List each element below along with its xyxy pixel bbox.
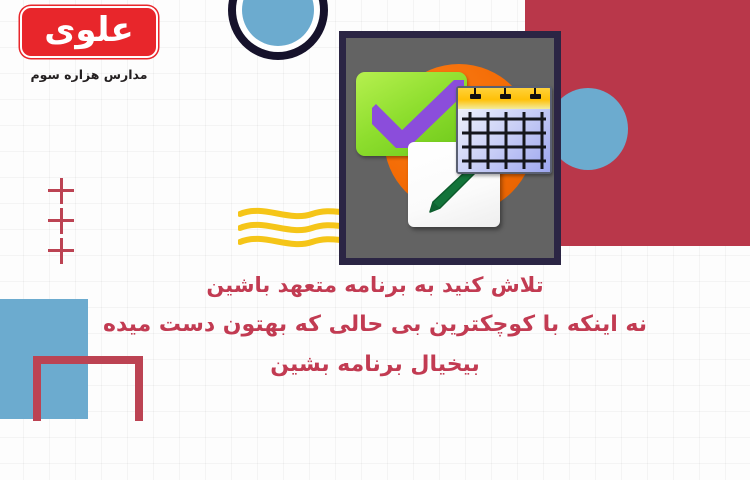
wavy-lines-svg <box>238 206 354 252</box>
schedule-planner-icon <box>339 31 561 265</box>
wavy-lines-decor <box>238 206 354 252</box>
headline-block: تلاش کنید به برنامه متعهد باشین نه اینکه… <box>0 275 750 376</box>
brand-logo[interactable]: علوی مدارس هزاره سوم <box>20 6 170 82</box>
calendar-grid <box>458 109 550 172</box>
plus-icon <box>48 208 74 234</box>
calendar-header <box>458 88 550 109</box>
calendar-grid-lines <box>458 109 550 173</box>
headline-line-3: بیخیال برنامه بشین <box>0 354 750 376</box>
poster-canvas: علوی مدارس هزاره سوم تلاش کنید به برنامه… <box>0 0 750 480</box>
checkmark-icon <box>372 80 464 148</box>
logo-text: علوی <box>44 13 134 47</box>
calendar-clip-icon <box>500 86 509 102</box>
calendar-clip-icon <box>470 86 479 102</box>
circle-blue-core <box>242 0 314 46</box>
ringed-circle-decor <box>228 0 328 60</box>
plus-icon <box>48 238 74 264</box>
headline-line-2: نه اینکه با کوچکترین بی حالی که بهتون دس… <box>0 314 750 336</box>
icon-canvas <box>346 38 554 258</box>
calendar-clip-icon <box>530 86 539 102</box>
calendar-icon <box>456 86 552 174</box>
plus-icon <box>48 178 74 204</box>
plus-marks-decor <box>48 178 74 268</box>
logo-subtitle: مدارس هزاره سوم <box>20 67 158 82</box>
headline-line-1: تلاش کنید به برنامه متعهد باشین <box>0 275 750 296</box>
logo-plate: علوی <box>20 6 158 58</box>
circle-white-ring <box>236 0 320 52</box>
